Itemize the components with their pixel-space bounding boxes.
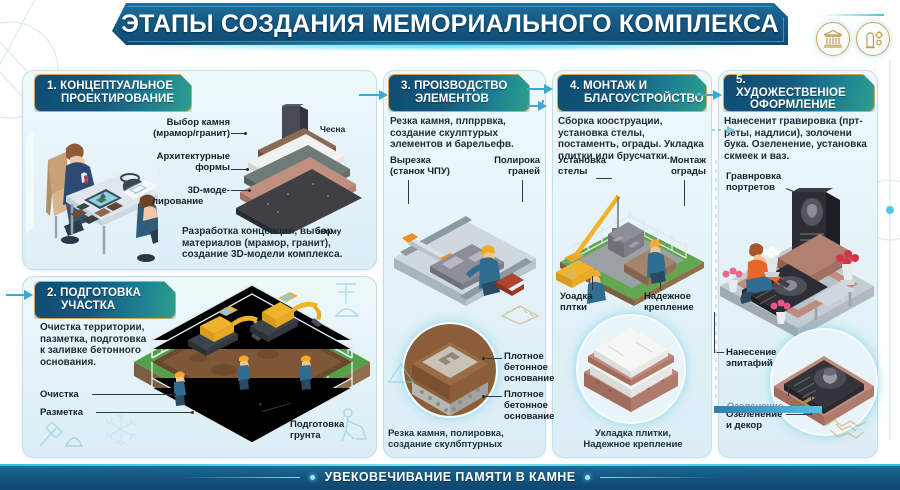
- step-header-1[interactable]: 1. КОНЦЕПТУАЛЬНОЕ ПРОЕКТИРОВАНИЕ: [34, 74, 192, 112]
- label-cleaning: Очистка: [40, 390, 79, 401]
- label-fence-install-2: ограды: [644, 167, 706, 178]
- crane-hook-icon: [556, 258, 586, 288]
- badge-group: [816, 22, 890, 56]
- leader-secure-fastening: [660, 276, 661, 290]
- step-header-3-line2: ЭЛЕМЕНТОВ: [401, 93, 513, 106]
- leader-dot-architectural-forms: [246, 168, 249, 171]
- arrow-step4-dashed-vertical: [712, 160, 720, 400]
- label-stele-install-2: стелы: [558, 167, 587, 178]
- step-3-caption-line2: создание скулбптурных: [388, 439, 502, 450]
- stone-slab-icon: [498, 300, 542, 326]
- leader-dense-concrete-a: [486, 358, 502, 359]
- step-header-2-line1: 2. ПОДГОТОВКА: [47, 287, 159, 300]
- step-1-body-overflow: зному: [316, 226, 360, 237]
- leader-tile-laying: [592, 276, 593, 290]
- footer-content: УВЕКОВЕЧИВАНИЕ ПАМЯТИ В КАМНЕ: [0, 464, 900, 490]
- leader-dot-soil-prep: [259, 403, 262, 406]
- illustration-crane-install: [554, 186, 710, 306]
- step-2-body-text: Очистка территории, пазметка, подготовка…: [40, 322, 148, 368]
- label-3d-modeling-2: лирование: [152, 197, 242, 208]
- leader-dot-stone-choice: [244, 132, 247, 135]
- step-header-1-line1: 1. КОНЦЕПТУАЛЬНОЕ: [47, 80, 175, 93]
- badge-divider-rule: [820, 14, 884, 16]
- step-4-caption-line2: Надежное крепление: [583, 439, 682, 450]
- inset-tile-layers: [578, 316, 684, 422]
- poster-title-text: ЭТАПЫ СОЗДАНИЯ МЕМОРИАЛЬНОГО КОМПЛЕКСА: [112, 3, 788, 45]
- step-3-caption-line1: Резка камня, полировка,: [388, 428, 504, 439]
- label-architectural-forms-2: формы: [146, 163, 230, 174]
- leader-dot-3d-modeling: [248, 189, 251, 192]
- label-marking: Разметка: [40, 408, 83, 419]
- label-landscaping-2: и декор: [726, 421, 762, 432]
- handshake-icon: [822, 408, 876, 442]
- arrow-step4-to-step5: [696, 88, 724, 102]
- arrow-step1-to-step3: [359, 88, 389, 102]
- step-header-2[interactable]: 2. ПОДГОТОВКА УЧАСТКА: [34, 281, 176, 319]
- step-header-5-line1: 5. ХУДОЖЕСТВЕНІОЕ: [736, 74, 858, 99]
- leader-stele-install: [596, 178, 612, 179]
- classical-temple-icon: [816, 22, 850, 56]
- label-secure-fastening-2: крепление: [644, 303, 694, 314]
- leader-dot-dense-concrete-b: [482, 395, 485, 398]
- leader-dot-marking: [191, 411, 194, 414]
- step-header-3[interactable]: 3. ПРОІЗВОДСТВО ЭЛЕМЕНТОВ: [388, 74, 530, 112]
- footer-bullet-right: [585, 475, 590, 480]
- step-3-body-text: Резка камня, плпррвка, создание скулптур…: [390, 116, 542, 151]
- leader-polish: [522, 180, 523, 202]
- infographic-poster: ЭТАПЫ СОЗДАНИЯ МЕМОРИАЛЬНОГО КОМПЛЕКСА: [0, 0, 900, 490]
- snowflake-icon: [100, 408, 142, 450]
- poster-footer: УВЕКОВЕЧИВАНИЕ ПАМЯТИ В КАМНЕ: [0, 464, 900, 490]
- level-ruler-icon: [330, 276, 370, 320]
- leader-marking: [96, 412, 192, 413]
- leader-landscaping: [786, 414, 812, 415]
- step-header-4-line1: 4. МОНТАЖ И: [570, 80, 690, 93]
- monument-gear-icon: [856, 22, 890, 56]
- leader-dot-landscaping: [810, 394, 813, 397]
- step-5-body-text: Нанесенит гравировка (прт-реты, надлиси)…: [724, 116, 876, 162]
- arrow-step3-to-step4-upper: [527, 82, 555, 96]
- leader-dot-landscaping-2: [787, 382, 790, 385]
- label-epitaph-2: эпитафий: [726, 359, 773, 370]
- arrow-step3-to-step4-lower: [527, 96, 555, 112]
- leader-cnc-cut: [408, 180, 409, 204]
- saw-blade-icon: [385, 358, 419, 388]
- step-4-caption: Укладка плитки, Надежное крепление: [558, 428, 708, 450]
- footer-rule-left: [180, 477, 300, 478]
- leader-fence-install: [684, 180, 685, 206]
- progress-bar-overlay: [714, 406, 822, 413]
- step-header-5-line2: ОФОРМЛЕНИЕ: [736, 99, 858, 112]
- leader-landscaping-vertical-2: [788, 384, 789, 396]
- step-3-caption: Резка камня, полировка, создание скулбпт…: [388, 428, 538, 450]
- step-header-2-line2: УЧАСТКА: [47, 300, 159, 313]
- leader-stone-choice: [231, 133, 245, 134]
- step-4-caption-line1: Укладка плитки,: [595, 428, 671, 439]
- label-soil-prep-2: грунта: [290, 431, 321, 442]
- footer-rule-right: [600, 477, 720, 478]
- leader-dot-dense-concrete-a: [482, 357, 485, 360]
- footer-text: УВЕКОВЕЧИВАНИЕ ПАМЯТИ В КАМНЕ: [325, 470, 576, 484]
- label-dense-concrete-b3: основание: [504, 412, 554, 423]
- arrow-step4-dashed-to-step5: [712, 124, 738, 136]
- step-header-4[interactable]: 4. МОНТАЖ И БЛАГОУСТРОЙСТВО: [557, 74, 707, 112]
- step-header-5[interactable]: 5. ХУДОЖЕСТВЕНІОЕ ОФОРМЛЕНИЕ: [723, 74, 875, 112]
- poster-title: ЭТАПЫ СОЗДАНИЯ МЕМОРИАЛЬНОГО КОМПЛЕКСА: [112, 3, 788, 45]
- label-tile-laying-2: плтки: [560, 303, 587, 314]
- label-polish-2: граней: [472, 167, 540, 178]
- leader-dot-cleaning: [173, 393, 176, 396]
- label-cnc-cut-2: (станок ЧПУ): [390, 167, 450, 178]
- arrow-step1-to-step2: [6, 288, 34, 302]
- footer-bullet-left: [310, 475, 315, 480]
- illustration-design-meeting: [26, 108, 158, 268]
- illustration-memorial-art: [716, 188, 880, 338]
- label-portrait-engraving-2: портретов: [726, 183, 775, 194]
- step-header-3-line1: 3. ПРОІЗВОДСТВО: [401, 80, 513, 93]
- label-chesna: Чесна: [320, 124, 360, 135]
- label-stone-choice-2: (мрамор/гранит): [140, 129, 230, 140]
- step-header-4-line2: БЛАГОУСТРОЙСТВО: [570, 93, 690, 106]
- label-dense-concrete-a3: основание: [504, 374, 554, 385]
- leader-cleaning: [92, 394, 174, 395]
- step-header-1-line2: ПРОЕКТИРОВАНИЕ: [47, 93, 175, 106]
- leader-architectural-forms: [231, 169, 247, 170]
- leader-3d-modeling: [231, 190, 249, 191]
- leader-dense-concrete-b: [486, 396, 502, 397]
